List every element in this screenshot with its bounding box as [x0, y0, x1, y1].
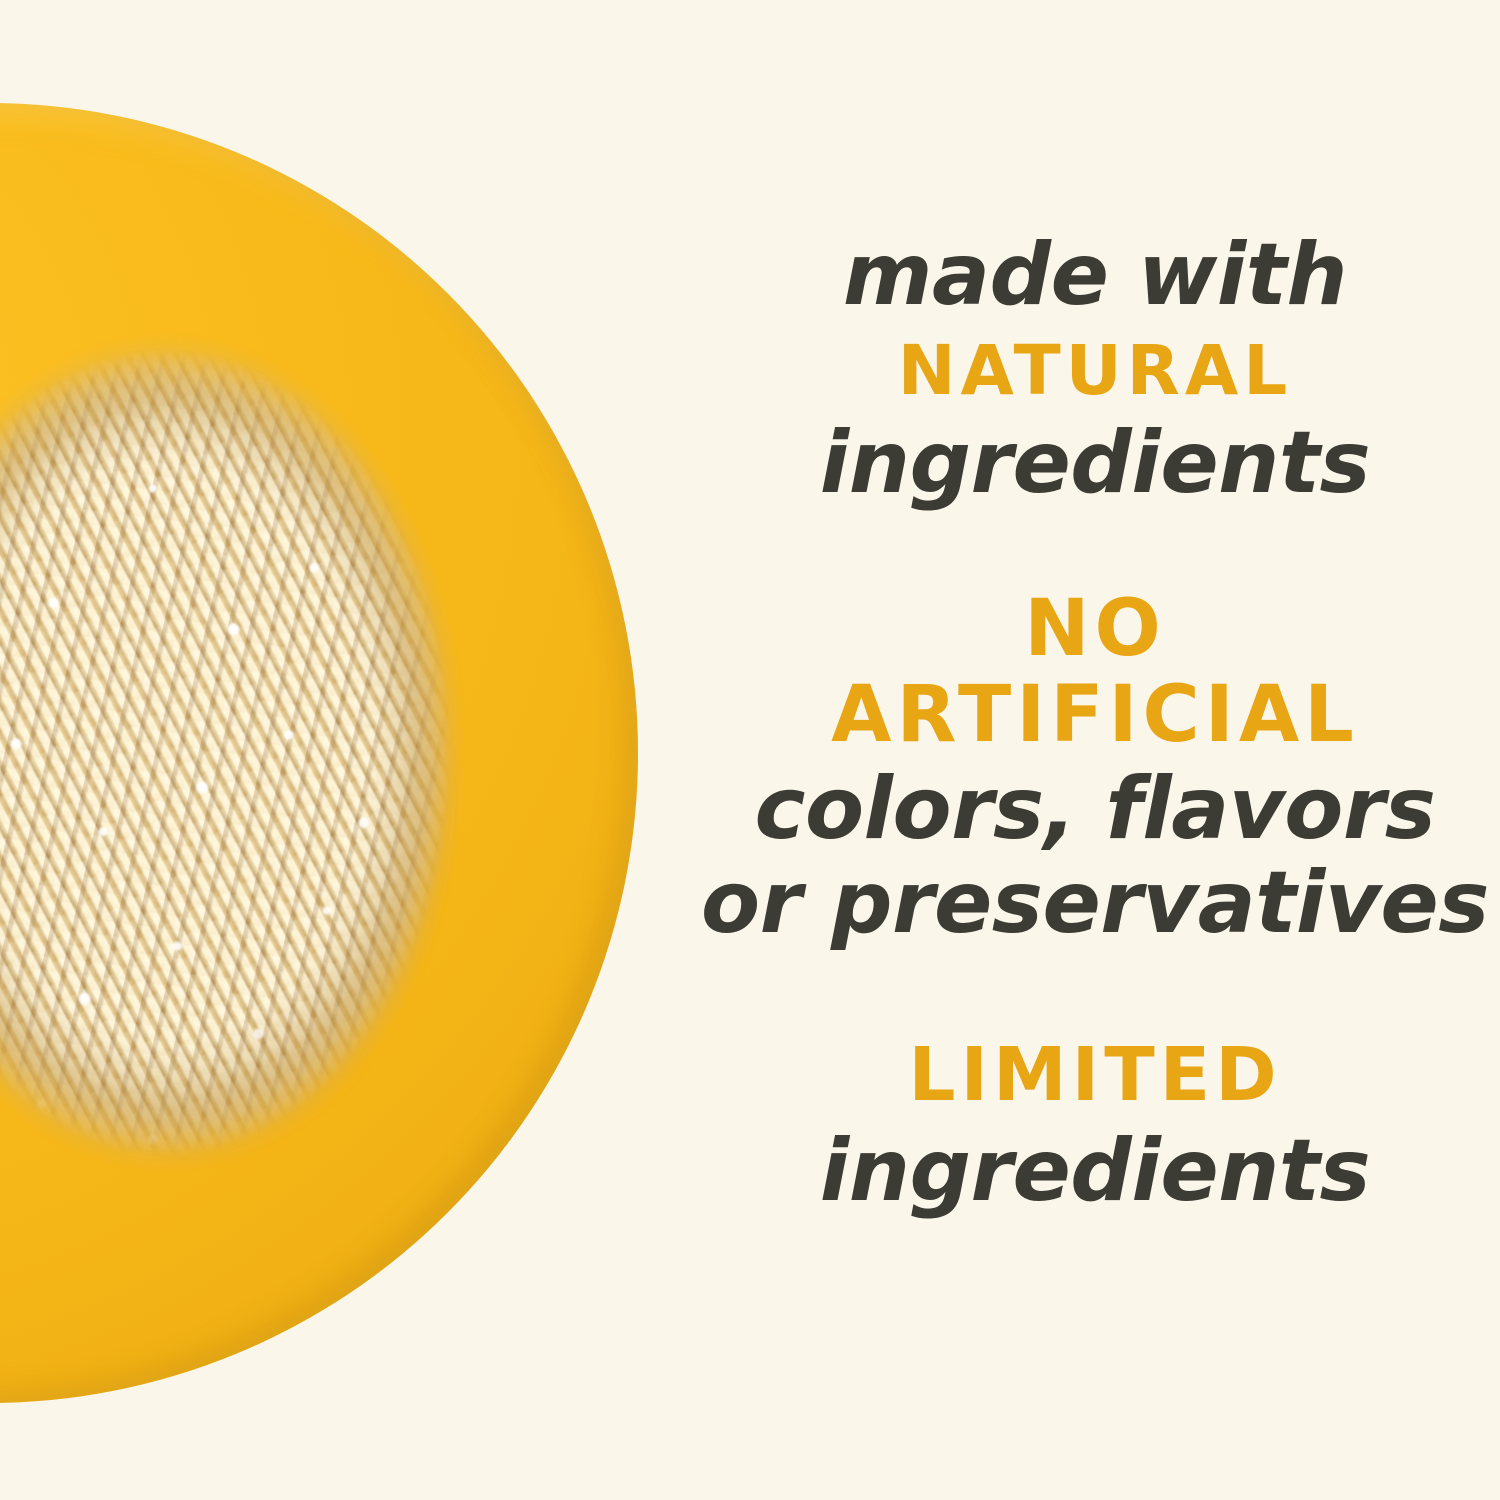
claims-column: made with NATURAL ingredients NO ARTIFIC… — [690, 0, 1500, 1500]
claim-artificial-line-2: ARTIFICIAL — [831, 676, 1359, 754]
claim-no-artificial: NO ARTIFICIAL colors, flavors or preserv… — [690, 590, 1500, 946]
claim-limited: LIMITED ingredients — [690, 1038, 1500, 1214]
claim-artificial-line-4: or preservatives — [701, 860, 1489, 946]
product-benefits-banner: made with NATURAL ingredients NO ARTIFIC… — [0, 0, 1500, 1500]
claim-natural-line-1: made with — [843, 232, 1347, 318]
claim-limited-line-2: ingredients — [820, 1128, 1370, 1214]
claim-natural: made with NATURAL ingredients — [690, 232, 1500, 506]
claim-limited-line-1: LIMITED — [908, 1038, 1281, 1112]
claim-artificial-line-1: NO — [1024, 590, 1166, 668]
claim-artificial-line-3: colors, flavors — [754, 766, 1435, 852]
claim-natural-line-2: NATURAL — [898, 337, 1292, 406]
shredded-chicken-mound — [0, 330, 500, 1210]
product-photo — [0, 0, 760, 1500]
claim-natural-line-3: ingredients — [820, 420, 1370, 506]
food-edge-shading — [0, 330, 500, 1210]
